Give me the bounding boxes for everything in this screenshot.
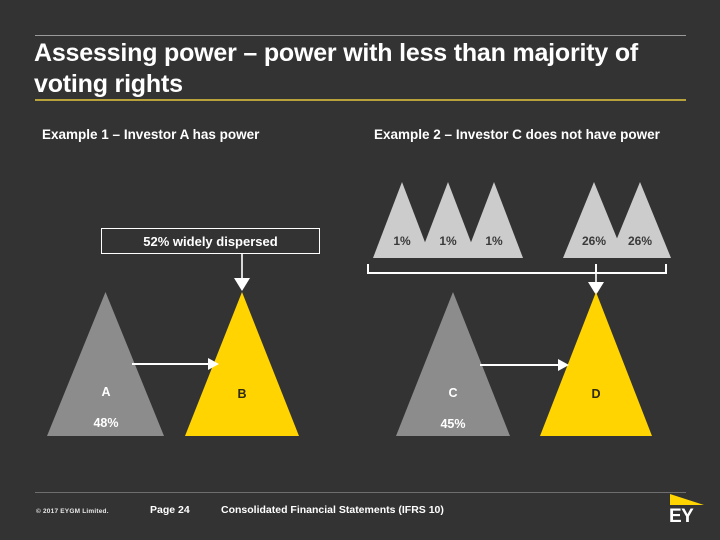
example-2-heading: Example 2 – Investor C does not have pow… [374,126,634,144]
holders-bracket [367,264,667,274]
entity-a-to-b-line [132,363,210,365]
dispersed-holdings-callout: 52% widely dispersed [101,228,320,254]
page-title: Assessing power – power with less than m… [34,38,674,100]
ey-beam-icon [670,494,704,505]
slide-canvas: Assessing power – power with less than m… [0,0,720,540]
holders-bracket-center-tick [595,264,597,274]
example-2-heading-text: Investor C does not have power [456,126,634,144]
dispersed-holdings-callout-text: 52% widely dispersed [143,234,277,249]
header-top-divider [35,35,686,36]
ey-logo: EY [662,492,710,532]
holder-3-triangle [465,182,523,258]
callout-to-entity-b-line [241,254,243,280]
example-1-heading-label: Example 1 – [42,126,120,144]
entity-c-to-d-arrowhead [558,359,569,371]
example-1-heading: Example 1 – Investor A has power [42,126,250,144]
ey-logo-text: EY [669,506,693,528]
footer-copyright: © 2017 EYGM Limited. [36,508,109,515]
header-accent-divider [35,99,686,101]
entity-a-to-b-arrowhead [208,358,219,370]
holder-5-triangle [609,182,671,258]
entity-c-to-d-line [480,364,560,366]
callout-to-entity-b-arrowhead [234,278,250,291]
footer-subject: Consolidated Financial Statements (IFRS … [221,504,444,516]
footer-page-number: Page 24 [150,504,190,516]
example-1-heading-text: Investor A has power [124,126,250,144]
footer-divider [35,492,686,493]
example-2-heading-label: Example 2 – [374,126,452,144]
